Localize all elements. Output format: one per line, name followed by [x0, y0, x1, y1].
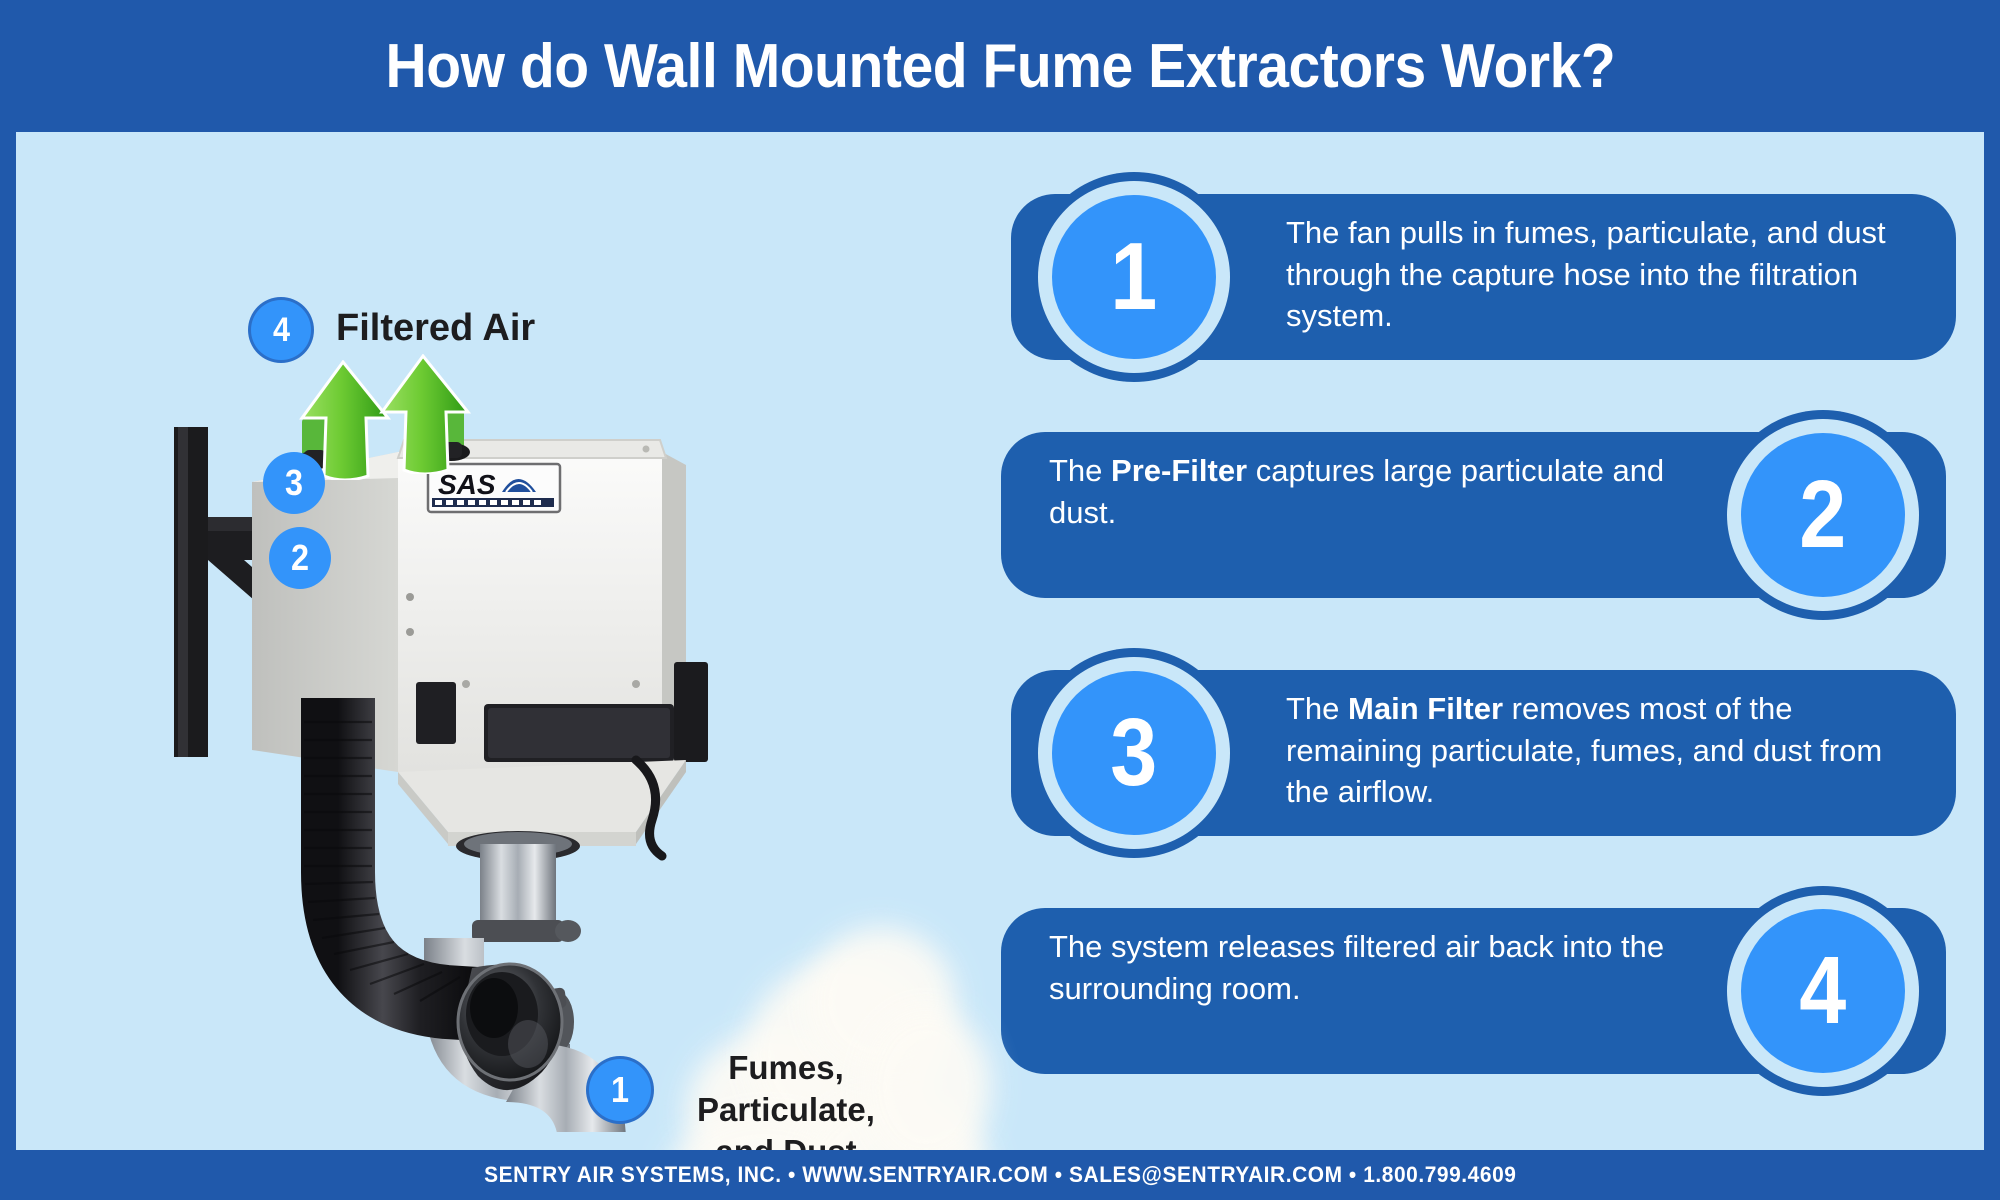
step-card-2[interactable]: 2 The Pre-Filter captures large particul… [1001, 410, 1956, 620]
diagram-badge-3[interactable]: 3 [263, 452, 325, 514]
step-number-4: 4 [1800, 943, 1847, 1039]
step-text-2-before: The [1049, 453, 1111, 488]
step-text-2: The Pre-Filter captures large particulat… [1049, 450, 1669, 533]
fumes-label-line-2: Particulate, [671, 1089, 901, 1131]
step-text-2-bold: Pre-Filter [1111, 453, 1247, 488]
step-number-circle-2: 2 [1741, 433, 1905, 597]
page-title: How do Wall Mounted Fume Extractors Work… [385, 31, 1615, 102]
step-text-4: The system releases filtered air back in… [1049, 926, 1669, 1009]
step-number-3: 3 [1111, 705, 1158, 801]
step-text-3-bold: Main Filter [1348, 691, 1503, 726]
step-text-1-before: The fan pulls in fumes, particulate, and… [1286, 215, 1886, 333]
fumes-label: Fumes, Particulate, and Dust [671, 1047, 901, 1150]
fumes-label-line-1: Fumes, [671, 1047, 901, 1089]
steps-list: 1 The fan pulls in fumes, particulate, a… [1001, 172, 1956, 1122]
step-card-1[interactable]: 1 The fan pulls in fumes, particulate, a… [1001, 172, 1956, 382]
step-number-circle-1: 1 [1052, 195, 1216, 359]
footer-contact-text: SENTRY AIR SYSTEMS, INC. • WWW.SENTRYAIR… [484, 1162, 1516, 1188]
step-card-3[interactable]: 3 The Main Filter removes most of the re… [1001, 648, 1956, 858]
step-number-2: 2 [1800, 467, 1847, 563]
footer-bar: SENTRY AIR SYSTEMS, INC. • WWW.SENTRYAIR… [0, 1150, 2000, 1200]
step-number-circle-4: 4 [1741, 909, 1905, 1073]
bell-nozzle-icon [458, 964, 562, 1090]
exhaust-arrow-icon-right [368, 354, 478, 474]
step-text-4-before: The system releases filtered air back in… [1049, 929, 1664, 1006]
equipment-diagram: SAS [16, 132, 1001, 1150]
step-card-4[interactable]: 4 The system releases filtered air back … [1001, 886, 1956, 1096]
step-text-3: The Main Filter removes most of the rema… [1286, 688, 1906, 813]
diagram-badge-1[interactable]: 1 [589, 1059, 651, 1121]
diagram-badge-4[interactable]: 4 [251, 300, 311, 360]
filtered-air-label: Filtered Air [336, 307, 535, 350]
fumes-label-line-3: and Dust [671, 1131, 901, 1150]
step-text-1: The fan pulls in fumes, particulate, and… [1286, 212, 1906, 337]
main-panel: SAS [16, 132, 1984, 1150]
step-number-circle-3: 3 [1052, 671, 1216, 835]
infographic-root: How do Wall Mounted Fume Extractors Work… [0, 0, 2000, 1200]
step-number-1: 1 [1111, 229, 1158, 325]
step-text-3-before: The [1286, 691, 1348, 726]
header-bar: How do Wall Mounted Fume Extractors Work… [0, 0, 2000, 132]
diagram-badge-2[interactable]: 2 [269, 527, 331, 589]
